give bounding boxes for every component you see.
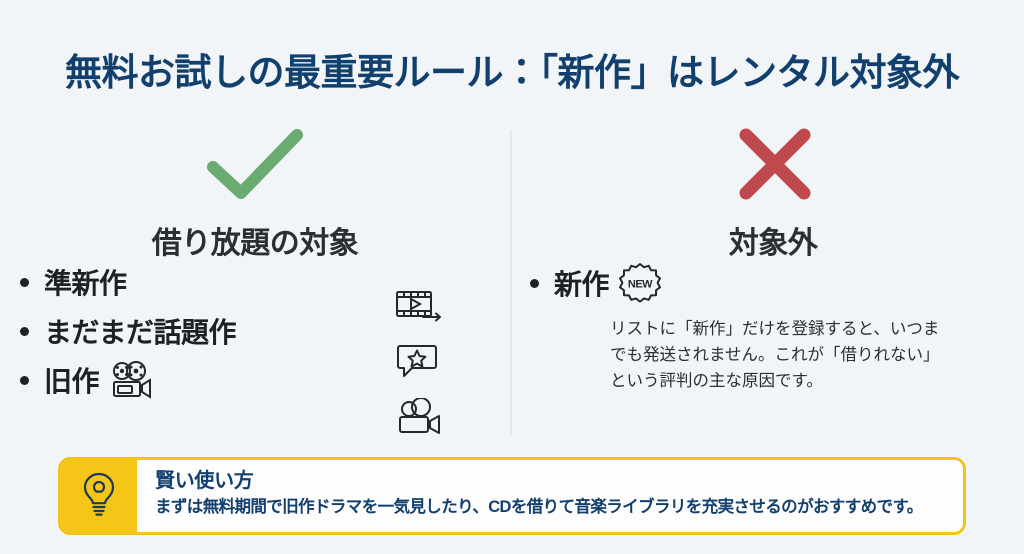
new-badge-icon: NEW <box>619 262 661 304</box>
red-cross-icon <box>732 125 818 208</box>
list-item-label: 準新作 <box>44 262 127 302</box>
callout-title: 賢い使い方 <box>155 469 947 494</box>
film-strip-play-arrow-icon <box>395 288 443 329</box>
film-projector-icon <box>109 361 155 399</box>
green-check-icon <box>203 125 307 208</box>
bullet-dot-icon <box>20 327 29 336</box>
exclude-heading: 対象外 <box>530 218 1000 262</box>
bullet-dot-icon <box>530 279 539 288</box>
lightbulb-icon <box>79 470 119 523</box>
list-item: 新作 NEW <box>530 262 1000 304</box>
exclude-list: 新作 NEW <box>530 262 1000 304</box>
callout-icon-band <box>61 460 137 532</box>
new-badge-text: NEW <box>628 279 653 291</box>
list-item-label: まだまだ話題作 <box>44 311 236 351</box>
column-divider <box>510 130 512 435</box>
list-item-label: 旧作 <box>44 360 99 400</box>
callout-body: 賢い使い方 まずは無料期間で旧作ドラマを一気見したり、CDを借りて音楽ライブラリ… <box>137 460 963 532</box>
list-item-label: 新作 <box>554 263 609 303</box>
tip-callout: 賢い使い方 まずは無料期間で旧作ドラマを一気見したり、CDを借りて音楽ライブラリ… <box>58 457 966 535</box>
comparison-columns: 借り放題の対象 準新作 まだまだ話題作 旧作 <box>0 120 1024 440</box>
callout-text: まずは無料期間で旧作ドラマを一気見したり、CDを借りて音楽ライブラリを充実させる… <box>155 497 947 518</box>
exclude-mark <box>530 120 1000 212</box>
column-include: 借り放題の対象 準新作 まだまだ話題作 旧作 <box>20 120 490 440</box>
include-mark <box>20 120 490 212</box>
bullet-dot-icon <box>20 376 29 385</box>
include-icon-rail <box>395 288 443 441</box>
video-camera-icon <box>396 398 442 441</box>
slide-root: 無料お試しの最重要ルール：「新作」はレンタル対象外 借り放題の対象 準新作 <box>0 0 1024 554</box>
bullet-dot-icon <box>20 278 29 287</box>
speech-bubble-star-icon <box>396 341 442 386</box>
page-title: 無料お試しの最重要ルール：「新作」はレンタル対象外 <box>0 42 1024 96</box>
exclude-note: リストに「新作」だけを登録すると、いつまでも発送されません。これが「借りれない」… <box>610 316 950 394</box>
include-heading: 借り放題の対象 <box>20 218 490 262</box>
column-exclude: 対象外 新作 NEW リストに「新作」だけを登録すると、いつまでも発送されません… <box>530 120 1000 440</box>
